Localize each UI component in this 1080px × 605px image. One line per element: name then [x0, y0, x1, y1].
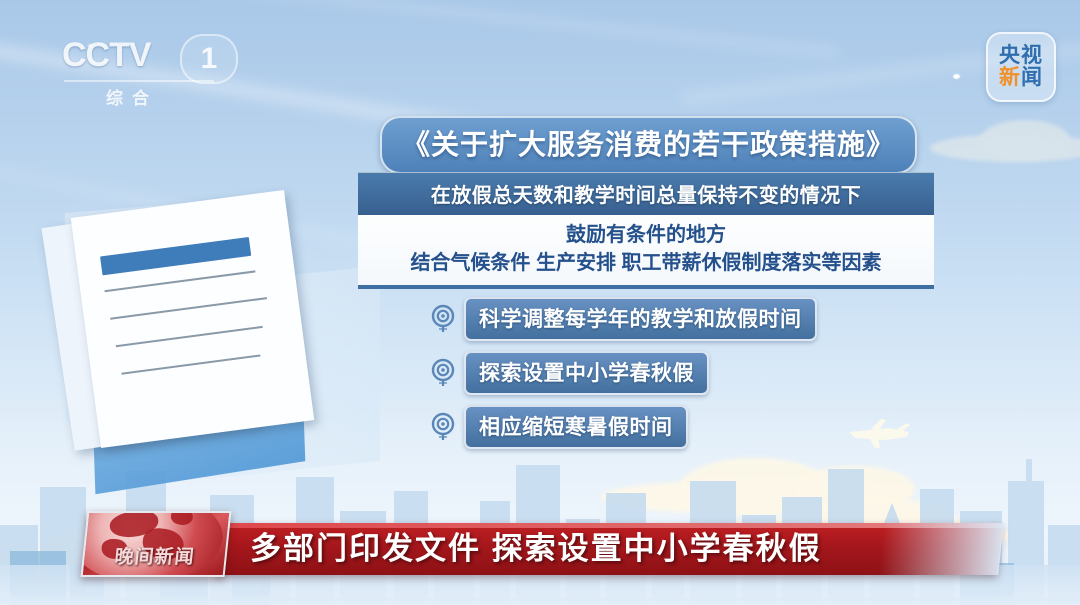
ticker-headline-wrap: 多部门印发文件 探索设置中小学春秋假 [250, 525, 990, 565]
target-pin-icon [430, 358, 456, 388]
policy-measure-list: 科学调整每学年的教学和放假时间 探索设置中小学春秋假 [430, 297, 817, 459]
measure-pill: 科学调整每学年的教学和放假时间 [464, 297, 817, 341]
target-pin-icon [430, 412, 456, 442]
broadcast-screen: CCTV 1 综合 央视 新闻 《关于扩大服务消费的若干政策措施》 在放假总天数… [0, 0, 1080, 605]
document-text-line [104, 270, 255, 292]
news-badge-highlight: 新 [999, 66, 1021, 89]
document-text-line [121, 354, 260, 374]
list-item: 探索设置中小学春秋假 [430, 351, 817, 395]
document-text-line [110, 297, 267, 320]
cctv-news-badge: 央视 新闻 [986, 32, 1056, 102]
policy-document-title-pill: 《关于扩大服务消费的若干政策措施》 [380, 116, 917, 174]
policy-body: 鼓励有条件的地方 结合气候条件 生产安排 职工带薪休假制度落实等因素 [358, 215, 934, 289]
policy-body-line-1: 鼓励有条件的地方 [358, 221, 934, 249]
program-logo: 晚间新闻 [81, 511, 232, 577]
cctv-channel-logo: CCTV 1 综合 [62, 38, 237, 110]
document-sheet-front [71, 190, 314, 448]
list-item: 相应缩短寒暑假时间 [430, 405, 817, 449]
measure-pill: 探索设置中小学春秋假 [464, 351, 709, 395]
news-ticker: 多部门印发文件 探索设置中小学春秋假 晚间新闻 [0, 495, 1080, 605]
channel-number-badge: 1 [180, 34, 238, 84]
channel-sub-label: 综合 [106, 84, 158, 109]
measure-text: 探索设置中小学春秋假 [479, 362, 694, 385]
news-badge-line2: 新闻 [999, 67, 1043, 89]
measure-pill: 相应缩短寒暑假时间 [464, 405, 688, 449]
program-name: 晚间新闻 [83, 542, 226, 569]
document-illustration [55, 195, 375, 475]
target-pin-icon [430, 304, 456, 334]
ticker-headline: 多部门印发文件 探索设置中小学春秋假 [250, 523, 822, 568]
measure-text: 相应缩短寒暑假时间 [479, 416, 673, 439]
channel-number: 1 [201, 42, 218, 76]
list-item: 科学调整每学年的教学和放假时间 [430, 297, 817, 341]
sparkle-icon [953, 74, 960, 79]
news-badge-rest: 闻 [1021, 66, 1043, 89]
document-text-line [116, 326, 263, 347]
policy-condition-bar: 在放假总天数和教学时间总量保持不变的情况下 [358, 172, 934, 215]
policy-info-panel: 在放假总天数和教学时间总量保持不变的情况下 鼓励有条件的地方 结合气候条件 生产… [358, 172, 934, 289]
policy-document-title: 《关于扩大服务消费的若干政策措施》 [402, 123, 895, 163]
policy-body-line-2: 结合气候条件 生产安排 职工带薪休假制度落实等因素 [358, 249, 934, 277]
document-title-bar [100, 237, 251, 275]
news-badge-line1: 央视 [999, 45, 1043, 67]
measure-text: 科学调整每学年的教学和放假时间 [479, 308, 802, 331]
policy-condition-text: 在放假总天数和教学时间总量保持不变的情况下 [431, 185, 862, 207]
